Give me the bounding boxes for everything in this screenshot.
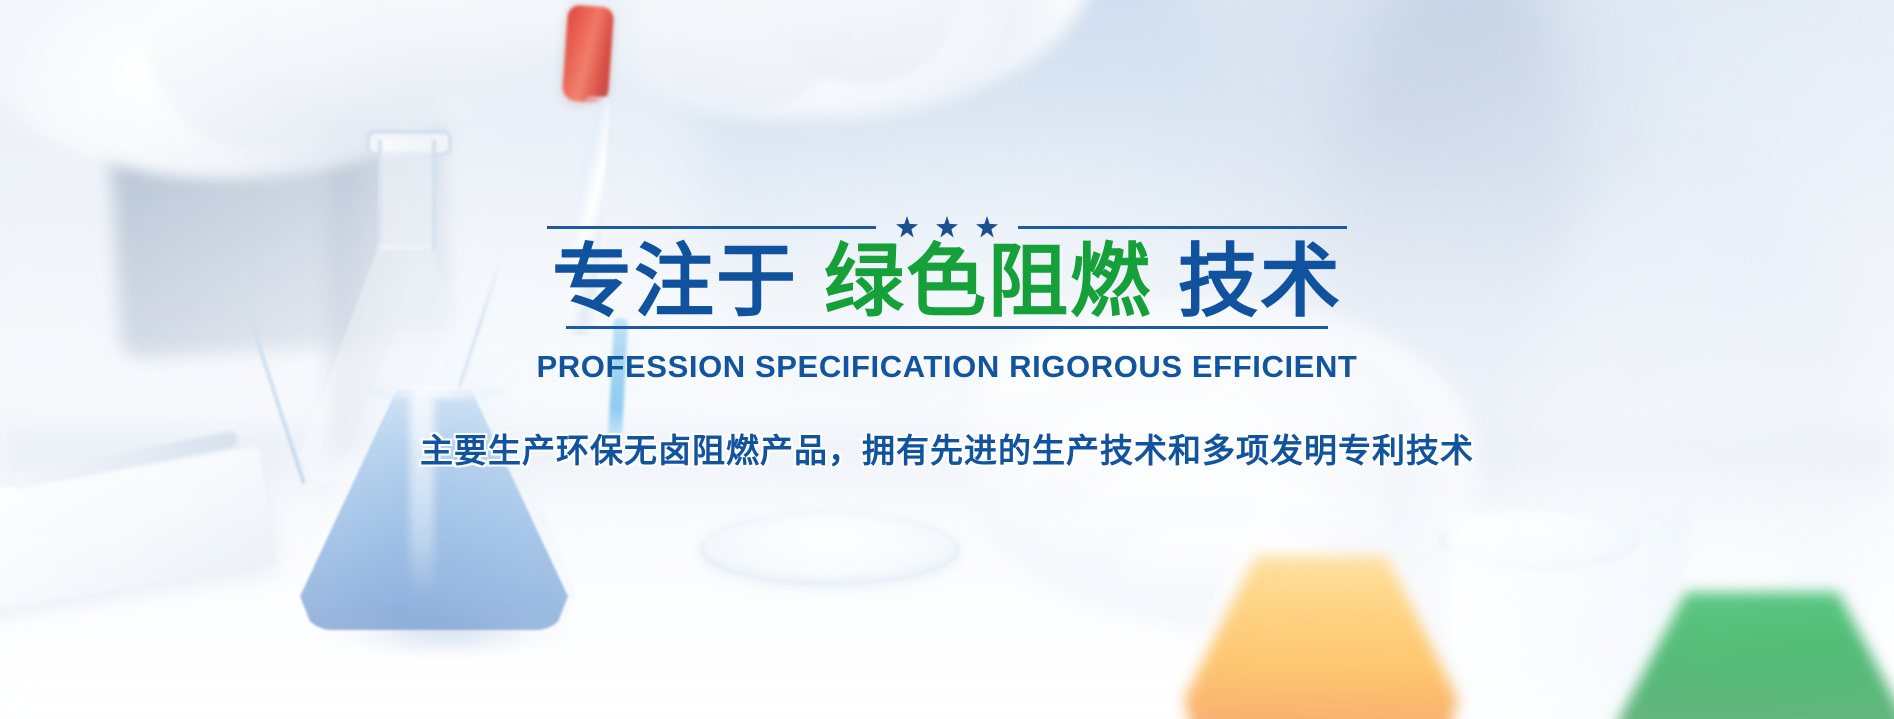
page-title: 专注于绿色阻燃技术 bbox=[0, 236, 1894, 328]
headline-part-3: 技术 bbox=[1178, 235, 1342, 328]
tagline-chinese: 主要生产环保无卤阻燃产品，拥有先进的生产技术和多项发明专利技术 bbox=[0, 428, 1894, 474]
headline-part-1: 专注于 bbox=[552, 235, 798, 328]
headline-part-2: 绿色阻燃 bbox=[824, 235, 1152, 328]
divider-line-right bbox=[1018, 226, 1347, 229]
divider-line-left bbox=[547, 226, 876, 229]
bottom-divider bbox=[566, 326, 1328, 329]
banner-content: 专注于绿色阻燃技术 PROFESSION SPECIFICATION RIGOR… bbox=[0, 0, 1894, 719]
hero-banner: 专注于绿色阻燃技术 PROFESSION SPECIFICATION RIGOR… bbox=[0, 0, 1894, 719]
subtitle-english: PROFESSION SPECIFICATION RIGOROUS EFFICI… bbox=[0, 348, 1894, 386]
